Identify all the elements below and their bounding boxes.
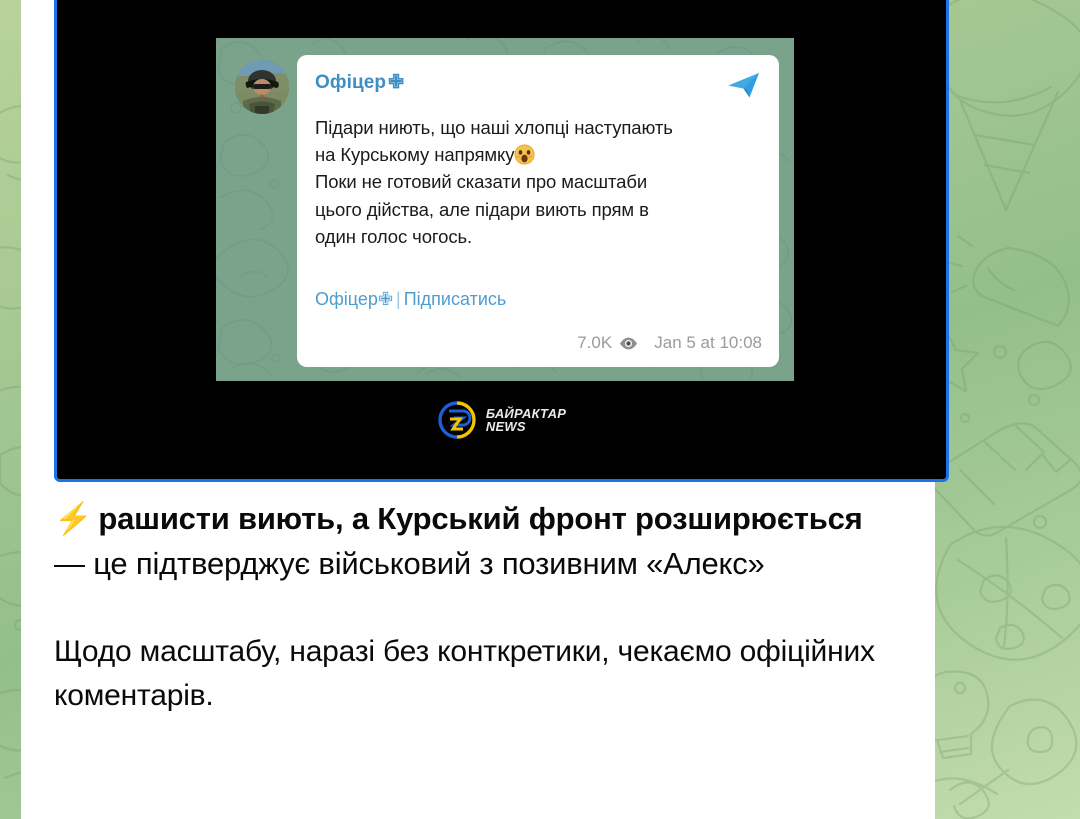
bubble-header: Офіцер✙ [315,71,761,107]
eye-icon [619,337,638,350]
caption-lead-dash: — [54,546,93,581]
subscribe-label: Підписатись [404,289,507,309]
footer-separator: | [393,289,404,309]
channel-badge-icon: ✙ [386,72,404,93]
footer-channel-name: Офіцер [315,289,378,309]
message-line-group-1: Підари ниють, що наші хлопці наступають … [315,117,673,165]
channel-subscribe-link[interactable]: Офіцер✙|Підписатись [315,289,506,310]
caption-lead-rest: це підтверджує військовий з позивним «Ал… [93,546,764,581]
post-panel: Офіцер✙ Підари ниють, що наші хлопці нас… [21,0,935,819]
watermark-line2: NEWS [486,420,566,433]
channel-name[interactable]: Офіцер✙ [315,71,404,94]
footer-badge-icon: ✙ [378,289,393,309]
watermark-text: БАЙРАКТАР NEWS [486,407,566,433]
telegram-post-screenshot: Офіцер✙ Підари ниють, що наші хлопці нас… [216,38,794,381]
telegram-plane-icon [727,72,761,107]
message-timestamp: Jan 5 at 10:08 [654,333,762,353]
message-stats: 7.0K Jan 5 at 10:08 [577,333,762,353]
channel-watermark: БАЙРАКТАР NEWS [57,400,946,440]
lightning-bolt-icon: ⚡ [54,501,98,536]
media-attachment[interactable]: Офіцер✙ Підари ниють, що наші хлопці нас… [54,0,949,482]
caption-lead-paragraph: ⚡рашисти виють, а Курський фронт розширю… [54,497,894,586]
caption-body-paragraph: Щодо масштабу, наразі без конткретики, ч… [54,630,894,718]
bayraktar-news-logo-icon [437,400,477,440]
caption-lead-bold: рашисти виють, а Курський фронт розширює… [98,501,862,536]
shocked-face-emoji [514,144,535,165]
message-text: Підари ниють, що наші хлопці наступають … [315,114,761,250]
channel-name-text: Офіцер [315,72,386,93]
message-line-group-2: Поки не готовий сказати про масштаби цьо… [315,171,649,246]
message-bubble: Офіцер✙ Підари ниють, що наші хлопці нас… [297,55,779,367]
avatar [235,60,289,114]
views-count: 7.0K [577,333,612,353]
post-caption: ⚡рашисти виють, а Курський фронт розширю… [54,497,894,718]
